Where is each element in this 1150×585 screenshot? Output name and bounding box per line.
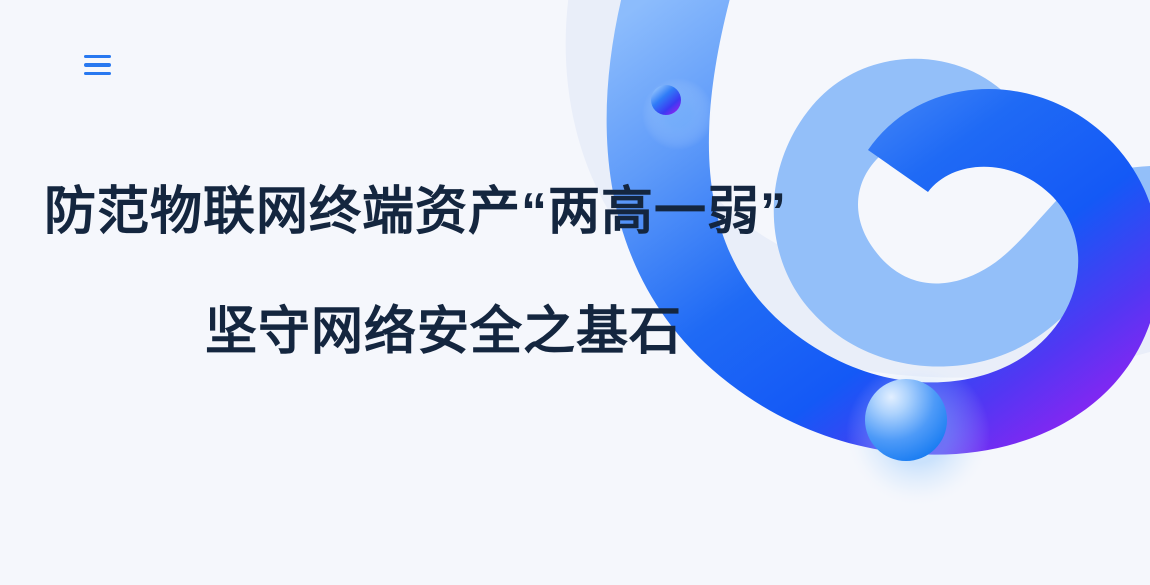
slide-title-line-2: 坚守网络安全之基石	[205, 306, 880, 358]
large-blue-sphere	[865, 379, 947, 461]
presentation-slide: 防范物联网终端资产“两高一弱” 坚守网络安全之基石	[0, 0, 1150, 585]
small-sphere-glow	[642, 78, 714, 150]
menu-bar-top	[84, 55, 111, 59]
small-gradient-sphere	[651, 85, 681, 115]
slide-title-block: 防范物联网终端资产“两高一弱” 坚守网络安全之基石	[0, 186, 880, 358]
menu-bar-middle	[84, 63, 111, 67]
menu-bar-bottom	[84, 72, 111, 76]
hamburger-menu-icon[interactable]	[84, 52, 114, 78]
large-sphere-glow	[846, 362, 990, 506]
slide-title-line-1: 防范物联网终端资产“两高一弱”	[44, 186, 880, 238]
